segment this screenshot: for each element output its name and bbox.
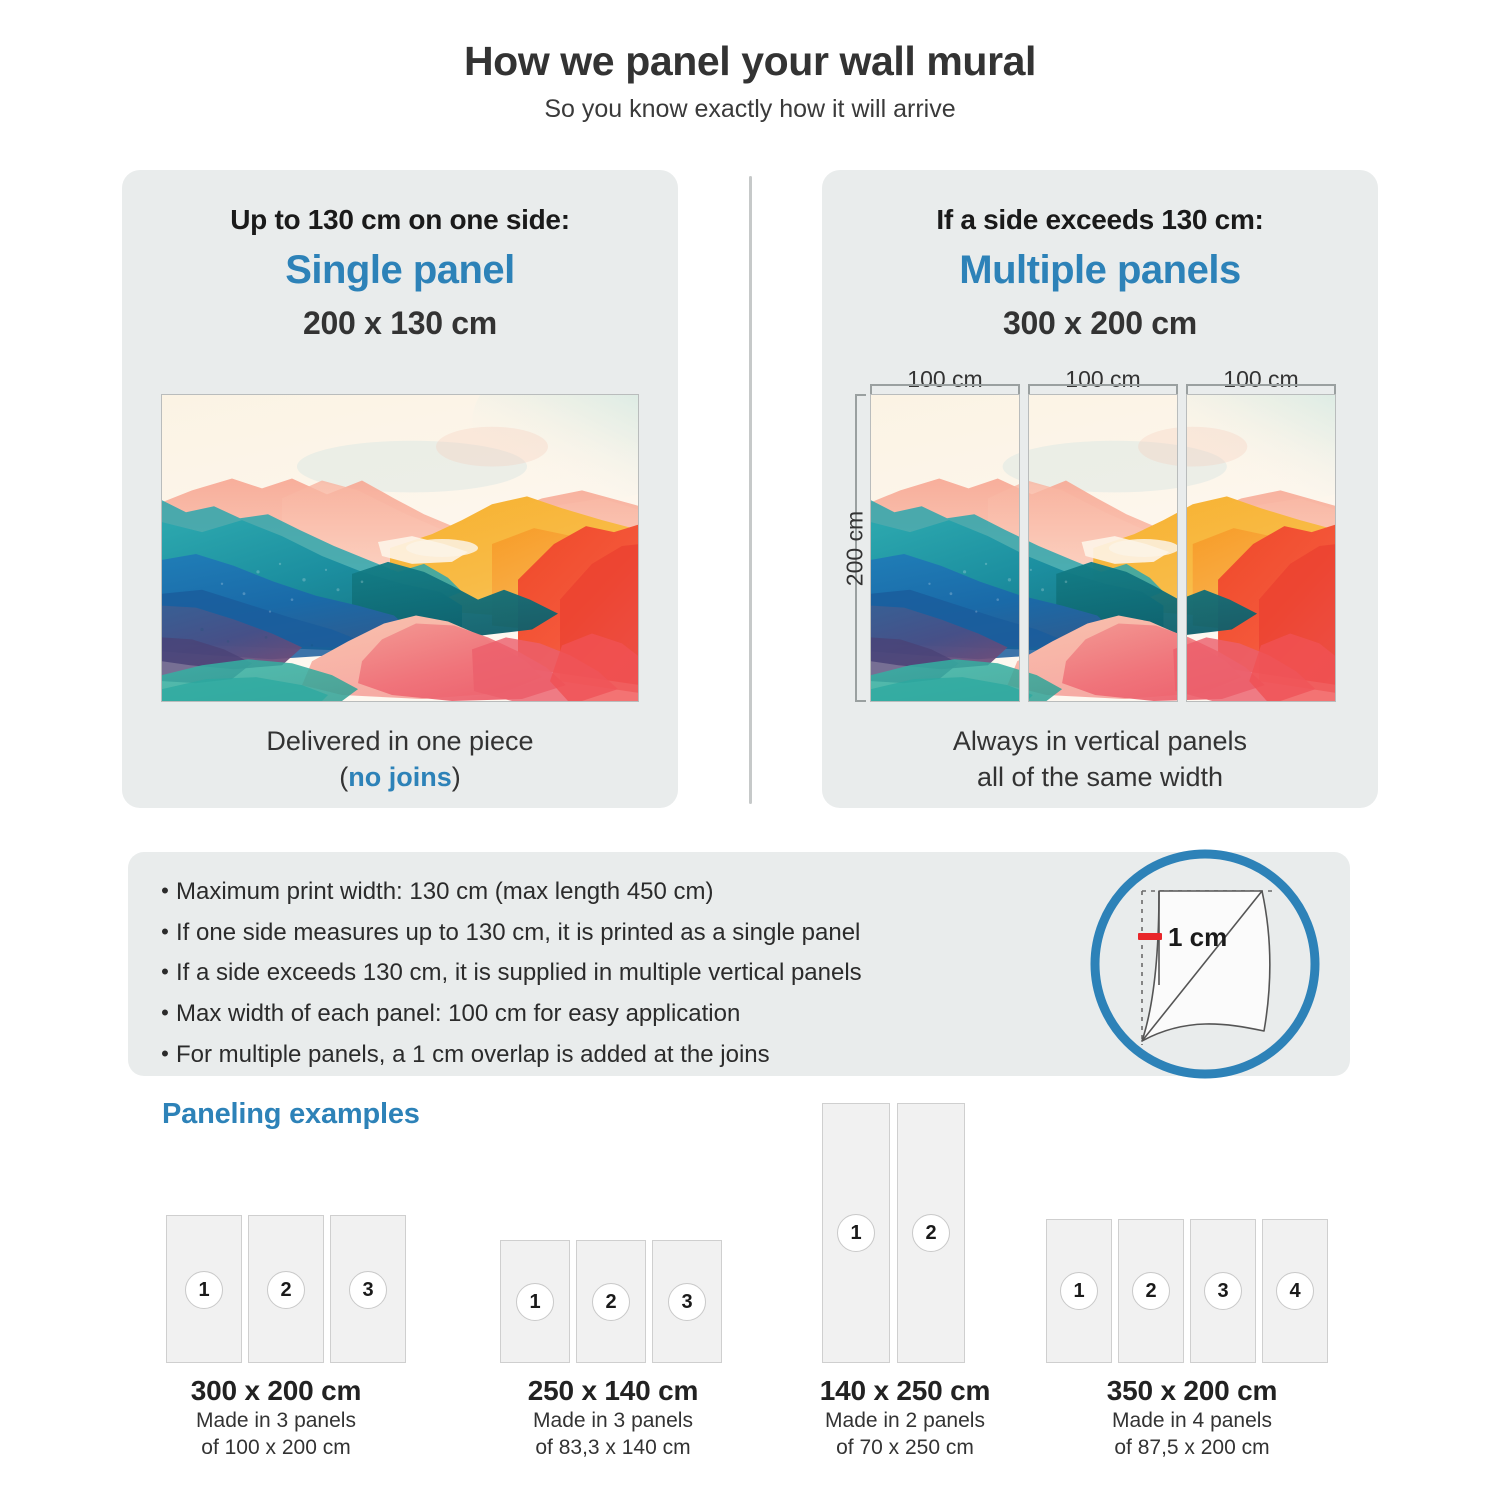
example-4-panels: 1 2 3 4 xyxy=(1046,1219,1328,1363)
triptych-art-slice-3 xyxy=(1186,395,1336,701)
page-title: How we panel your wall mural xyxy=(0,38,1500,85)
example-2-desc: Made in 3 panels of 83,3 x 140 cm xyxy=(473,1407,753,1462)
bullet-dot-icon: • xyxy=(154,876,176,905)
example-2-desc-line1: Made in 3 panels xyxy=(473,1407,753,1434)
mural-artwork-single xyxy=(161,394,639,702)
watercolor-artwork-slice xyxy=(1028,395,1178,701)
list-item: • For multiple panels, a 1 cm overlap is… xyxy=(154,1039,1114,1071)
list-item-text: If a side exceeds 130 cm, it is supplied… xyxy=(176,957,862,989)
list-item-text: Maximum print width: 130 cm (max length … xyxy=(176,876,714,908)
panel-width-bracket-3 xyxy=(1186,384,1336,393)
example-4-desc-line1: Made in 4 panels xyxy=(1042,1407,1342,1434)
example-2-size: 250 x 140 cm xyxy=(473,1375,753,1407)
left-card-heading-block: Up to 130 cm on one side: Single panel 2… xyxy=(122,204,678,342)
panel-shape: 1 xyxy=(500,1240,570,1363)
left-card-size: 200 x 130 cm xyxy=(122,305,678,342)
left-card-caption: Delivered in one piece (no joins) xyxy=(122,724,678,795)
card-divider xyxy=(749,176,752,804)
panel-number-badge: 2 xyxy=(1132,1272,1170,1310)
right-card-condition: If a side exceeds 130 cm: xyxy=(822,204,1378,236)
panel-number-badge: 3 xyxy=(668,1283,706,1321)
example-4-size: 350 x 200 cm xyxy=(1042,1375,1342,1407)
panel-shape: 2 xyxy=(1118,1219,1184,1363)
mural-artwork-triptych xyxy=(870,394,1336,702)
bullet-dot-icon: • xyxy=(154,957,176,986)
right-card-result: Multiple panels xyxy=(822,248,1378,293)
header: How we panel your wall mural So you know… xyxy=(0,38,1500,124)
paren-close: ) xyxy=(452,762,461,792)
example-3-desc: Made in 2 panels of 70 x 250 cm xyxy=(760,1407,1050,1462)
panel-number-badge: 3 xyxy=(349,1271,387,1309)
paneling-examples-title: Paneling examples xyxy=(162,1098,420,1131)
example-3-desc-line2: of 70 x 250 cm xyxy=(760,1434,1050,1461)
panel-number-badge: 2 xyxy=(912,1214,950,1252)
panel-shape: 1 xyxy=(822,1103,890,1363)
example-1-panels: 1 2 3 xyxy=(166,1215,406,1363)
panel-number-badge: 1 xyxy=(516,1283,554,1321)
example-2-desc-line2: of 83,3 x 140 cm xyxy=(473,1434,753,1461)
right-card-size: 300 x 200 cm xyxy=(822,305,1378,342)
panel-number-badge: 4 xyxy=(1276,1272,1314,1310)
example-3-size: 140 x 250 cm xyxy=(760,1375,1050,1407)
panel-shape: 2 xyxy=(248,1215,324,1363)
watercolor-artwork-slice xyxy=(871,395,1020,701)
triptych-art-slice-2 xyxy=(1028,395,1178,701)
bullet-dot-icon: • xyxy=(154,998,176,1027)
panel-number-badge: 1 xyxy=(185,1271,223,1309)
panel-number-badge: 2 xyxy=(592,1283,630,1321)
right-caption-line2: all of the same width xyxy=(822,760,1378,796)
paren-open: ( xyxy=(339,762,348,792)
example-1-size: 300 x 200 cm xyxy=(126,1375,426,1407)
panel-number-badge: 1 xyxy=(1060,1272,1098,1310)
list-item: • Maximum print width: 130 cm (max lengt… xyxy=(154,876,1114,908)
panel-shape: 3 xyxy=(652,1240,722,1363)
mural-canvas xyxy=(162,395,638,701)
overlap-detail-diagram: 1 cm xyxy=(1086,845,1324,1083)
left-caption-line2: (no joins) xyxy=(122,760,678,796)
left-card-condition: Up to 130 cm on one side: xyxy=(122,204,678,236)
panel-width-bracket-2 xyxy=(1028,384,1178,393)
list-item-text: If one side measures up to 130 cm, it is… xyxy=(176,917,860,949)
watercolor-artwork-slice xyxy=(1186,395,1336,701)
specifications-list: • Maximum print width: 130 cm (max lengt… xyxy=(154,876,1114,1079)
panel-shape: 2 xyxy=(576,1240,646,1363)
panel-height-label: 200 cm xyxy=(842,489,869,609)
example-1-desc-line1: Made in 3 panels xyxy=(126,1407,426,1434)
triptych-panel-3 xyxy=(1186,394,1336,702)
list-item: • If a side exceeds 130 cm, it is suppli… xyxy=(154,957,1114,989)
panel-shape: 3 xyxy=(330,1215,406,1363)
example-3-panels: 1 2 xyxy=(822,1103,965,1363)
list-item: • Max width of each panel: 100 cm for ea… xyxy=(154,998,1114,1030)
example-1-desc-line2: of 100 x 200 cm xyxy=(126,1434,426,1461)
example-4-desc: Made in 4 panels of 87,5 x 200 cm xyxy=(1042,1407,1342,1462)
watercolor-mountain-artwork xyxy=(162,395,638,701)
list-item-text: For multiple panels, a 1 cm overlap is a… xyxy=(176,1039,770,1071)
triptych-panel-2 xyxy=(1028,394,1178,702)
panel-number-badge: 1 xyxy=(837,1214,875,1252)
right-caption-line1: Always in vertical panels xyxy=(822,724,1378,760)
example-4-desc-line2: of 87,5 x 200 cm xyxy=(1042,1434,1342,1461)
panel-shape: 4 xyxy=(1262,1219,1328,1363)
no-joins-highlight: no joins xyxy=(348,762,452,792)
left-card-result: Single panel xyxy=(122,248,678,293)
overlap-illustration: 1 cm xyxy=(1086,845,1324,1083)
panel-width-bracket-1 xyxy=(870,384,1020,393)
example-1-desc: Made in 3 panels of 100 x 200 cm xyxy=(126,1407,426,1462)
right-card-caption: Always in vertical panels all of the sam… xyxy=(822,724,1378,795)
panel-shape: 3 xyxy=(1190,1219,1256,1363)
left-caption-line1: Delivered in one piece xyxy=(122,724,678,760)
right-card-heading-block: If a side exceeds 130 cm: Multiple panel… xyxy=(822,204,1378,342)
triptych-art-slice-1 xyxy=(871,395,1020,701)
panel-shape: 1 xyxy=(166,1215,242,1363)
panel-shape: 1 xyxy=(1046,1219,1112,1363)
panel-number-badge: 2 xyxy=(267,1271,305,1309)
bullet-dot-icon: • xyxy=(154,917,176,946)
example-2-panels: 1 2 3 xyxy=(500,1240,722,1363)
infographic-root: How we panel your wall mural So you know… xyxy=(0,0,1500,1500)
list-item-text: Max width of each panel: 100 cm for easy… xyxy=(176,998,740,1030)
panel-shape: 2 xyxy=(897,1103,965,1363)
example-3-desc-line1: Made in 2 panels xyxy=(760,1407,1050,1434)
triptych-panel-1 xyxy=(870,394,1020,702)
page-subtitle: So you know exactly how it will arrive xyxy=(0,95,1500,124)
bullet-dot-icon: • xyxy=(154,1039,176,1068)
panel-number-badge: 3 xyxy=(1204,1272,1242,1310)
list-item: • If one side measures up to 130 cm, it … xyxy=(154,917,1114,949)
overlap-label: 1 cm xyxy=(1168,922,1227,952)
